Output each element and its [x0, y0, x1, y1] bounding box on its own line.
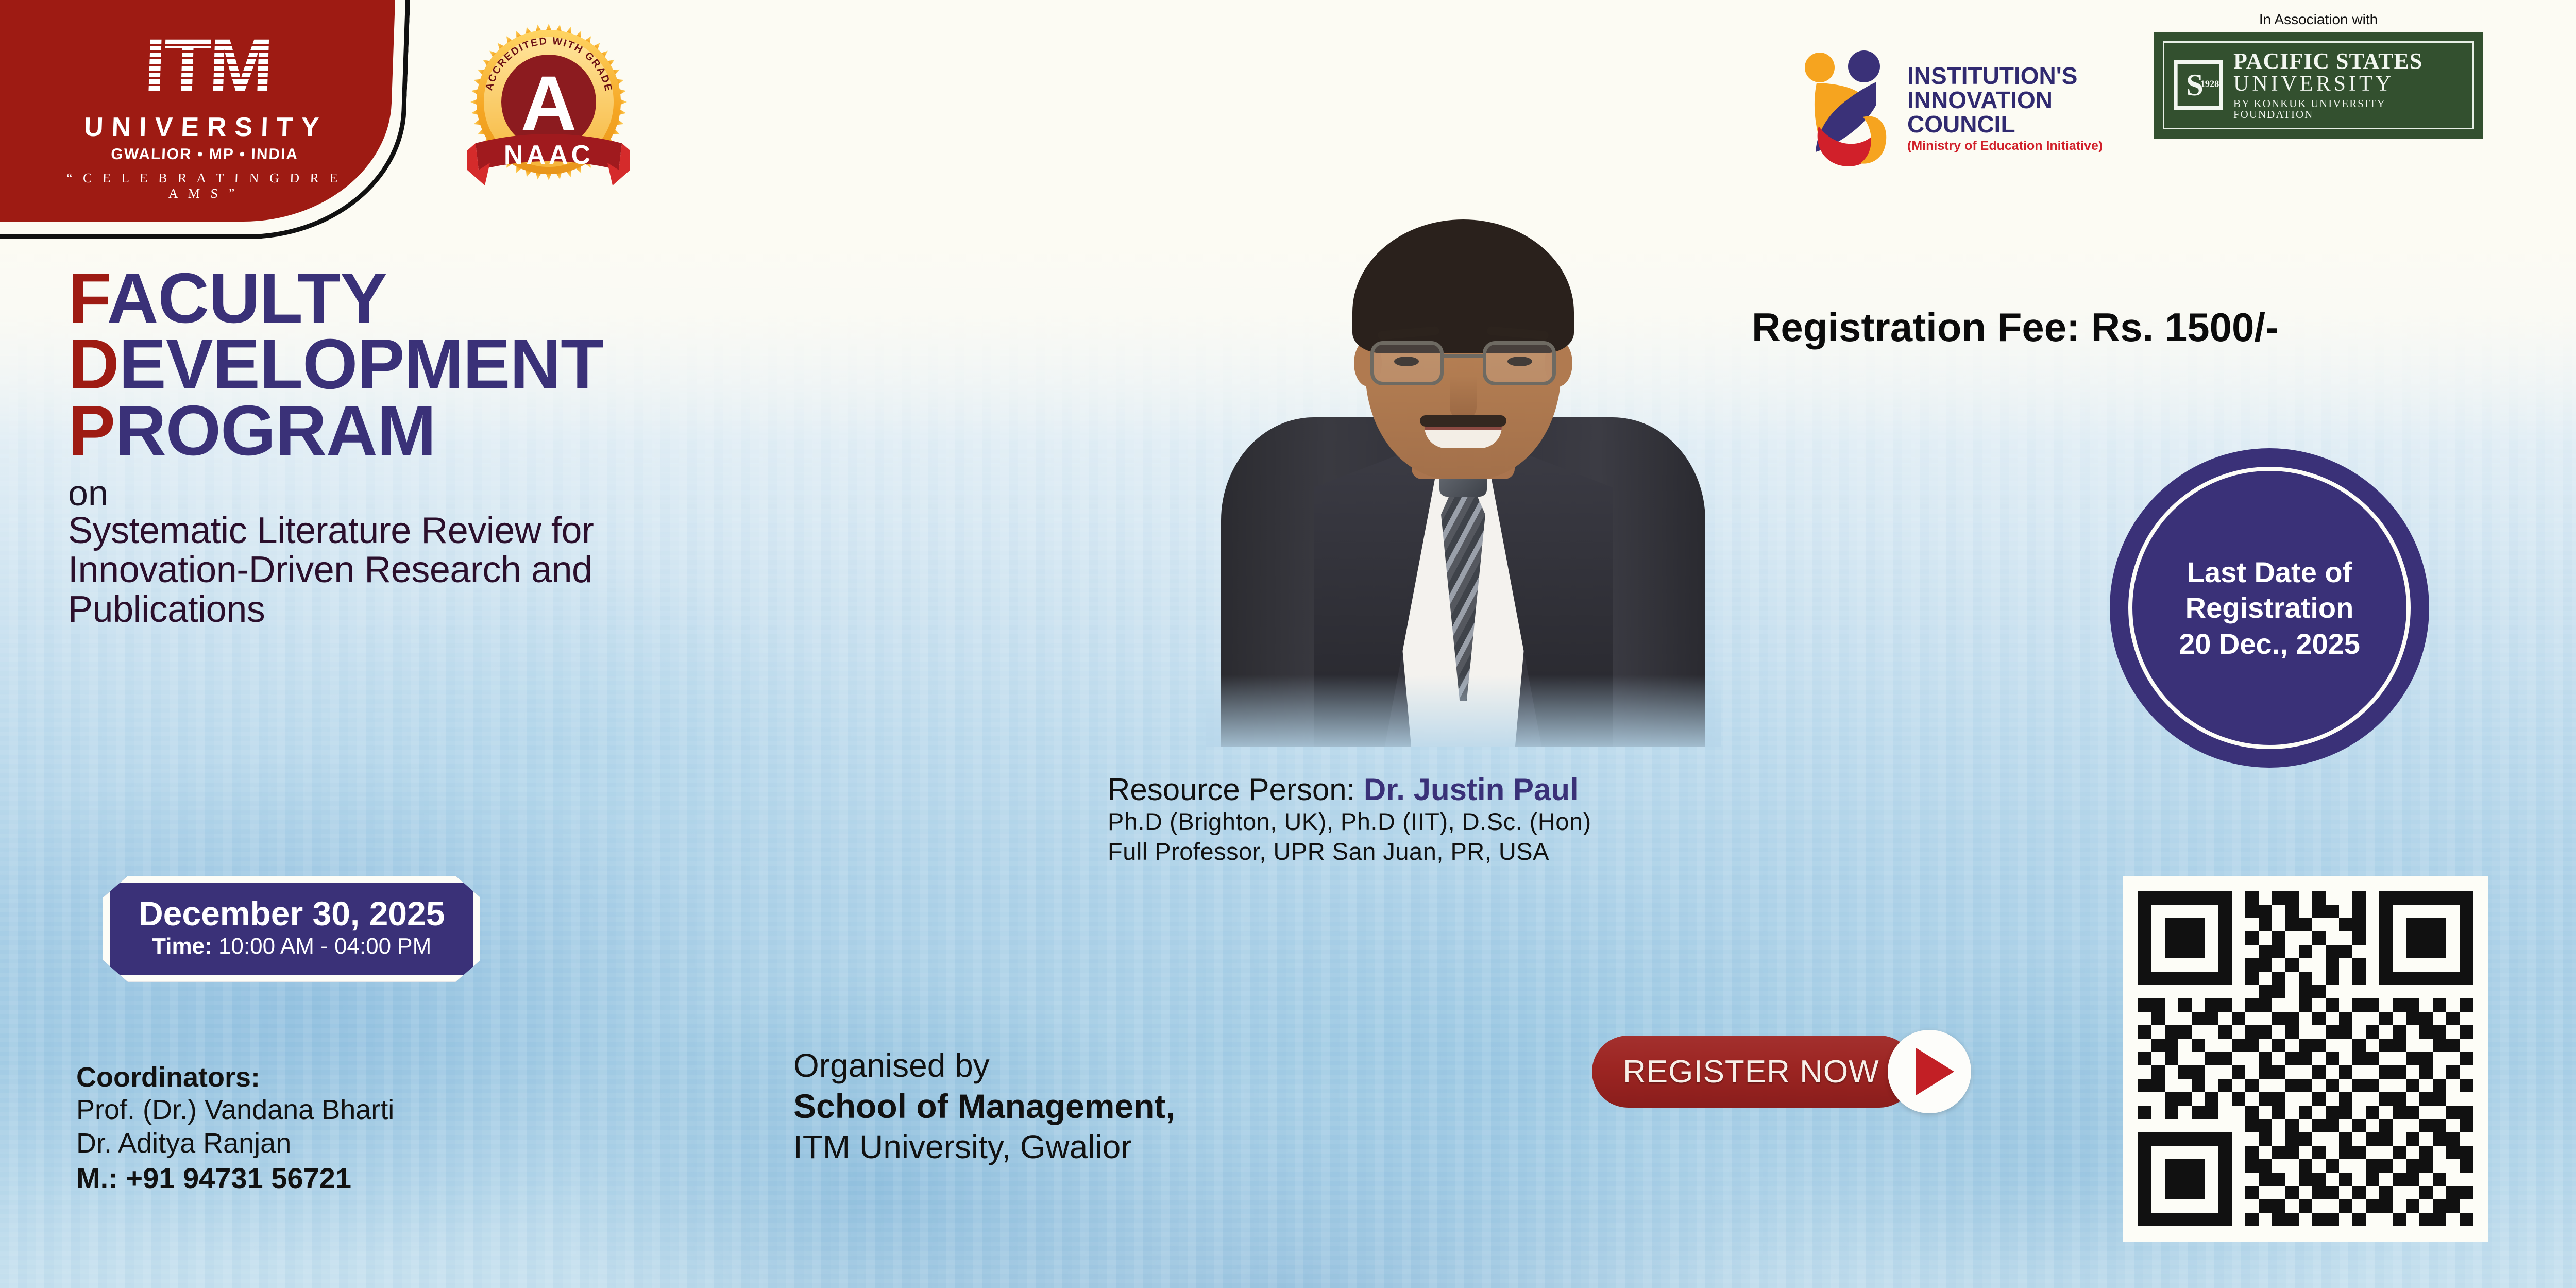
event-headline: FACULTY DEVELOPMENT PROGRAM on Systemati… — [68, 265, 603, 629]
topic-line-3: Publications — [68, 590, 603, 629]
iic-text-block: INSTITUTION'S INNOVATION COUNCIL (Minist… — [1907, 64, 2103, 152]
psu-name-block: PACIFIC STATES UNIVERSITY BY KONKUK UNIV… — [2233, 50, 2463, 121]
event-time: Time: 10:00 AM - 04:00 PM — [139, 934, 445, 960]
speaker-photo-fade — [1206, 675, 1721, 747]
speaker-photo — [1206, 170, 1721, 747]
organiser-university: ITM University, Gwalior — [793, 1127, 1175, 1167]
register-now-label: REGISTER NOW — [1623, 1054, 1879, 1090]
glasses-lens-right — [1483, 341, 1556, 385]
coordinator-name-2: Dr. Aditya Ranjan — [76, 1127, 394, 1160]
psu-name-line-2: UNIVERSITY — [2233, 73, 2463, 95]
event-date-badge: December 30, 2025 Time: 10:00 AM - 04:00… — [103, 876, 480, 982]
last-date-badge: Last Date of Registration 20 Dec., 2025 — [2110, 448, 2429, 768]
resource-person-credentials: Ph.D (Brighton, UK), Ph.D (IIT), D.Sc. (… — [1108, 807, 1591, 837]
itm-location-label: GWALIOR • MP • INDIA — [60, 146, 349, 163]
iic-line-2: INNOVATION — [1907, 88, 2103, 112]
speaker-nose — [1450, 376, 1477, 420]
organised-by-block: Organised by School of Management, ITM U… — [793, 1046, 1175, 1167]
coordinator-name-1: Prof. (Dr.) Vandana Bharti — [76, 1093, 394, 1127]
svg-text:1928: 1928 — [2200, 79, 2219, 89]
psu-name-line-1: PACIFIC STATES — [2233, 50, 2463, 73]
coordinators-title: Coordinators: — [76, 1061, 394, 1093]
registration-qr-code[interactable] — [2123, 876, 2488, 1242]
psu-logo-inner-frame: S 1928 PACIFIC STATES UNIVERSITY BY KONK… — [2163, 41, 2474, 129]
iic-line-3: COUNCIL — [1907, 112, 2103, 137]
resource-person-affiliation: Full Professor, UPR San Juan, PR, USA — [1108, 837, 1591, 867]
registration-fee: Registration Fee: Rs. 1500/- — [1752, 304, 2279, 351]
last-date-line-3: 20 Dec., 2025 — [2179, 626, 2360, 662]
glasses-bridge — [1444, 354, 1483, 358]
headline-line-faculty: FACULTY — [68, 265, 603, 331]
in-association-with-label: In Association with — [2154, 11, 2483, 28]
time-value: 10:00 AM - 04:00 PM — [218, 934, 431, 959]
register-now-pill[interactable]: REGISTER NOW — [1592, 1036, 1916, 1108]
headline-line-program: PROGRAM — [68, 398, 603, 464]
naac-seal-icon: ACCREDITED WITH GRADE A NAAC — [466, 15, 631, 193]
event-date: December 30, 2025 — [139, 896, 445, 931]
resource-person-line: Resource Person: Dr. Justin Paul — [1108, 773, 1591, 807]
organised-by-label: Organised by — [793, 1046, 1175, 1086]
iic-line-1: INSTITUTION'S — [1907, 64, 2103, 88]
headline-rest-program: ROGRAM — [115, 391, 436, 470]
itm-tagline: “ C E L E B R A T I N G D R E A M S ” — [59, 171, 348, 201]
institutions-innovation-council-logo: INSTITUTION'S INNOVATION COUNCIL (Minist… — [1798, 49, 2103, 167]
itm-university-logo: ITM UNIVERSITY GWALIOR • MP • INDIA “ C … — [59, 26, 353, 201]
organiser-school: School of Management, — [793, 1086, 1175, 1127]
resource-person-name: Dr. Justin Paul — [1364, 772, 1579, 807]
psu-seal-icon: S 1928 — [2174, 60, 2223, 110]
poster-canvas: ITM UNIVERSITY GWALIOR • MP • INDIA “ C … — [0, 0, 2576, 1288]
topic-line-1: Systematic Literature Review for — [68, 511, 603, 550]
iic-ministry-subtitle: (Ministry of Education Initiative) — [1907, 140, 2103, 153]
topic-line-2: Innovation-Driven Research and — [68, 550, 603, 589]
qr-code-icon — [2138, 891, 2473, 1226]
naac-ribbon-text: NAAC — [504, 140, 594, 170]
itm-wordmark-icon: ITM — [114, 26, 302, 106]
psu-name-line-3: BY KONKUK UNIVERSITY FOUNDATION — [2233, 98, 2463, 121]
naac-grade-letter: A — [521, 60, 577, 146]
last-date-text: Last Date of Registration 20 Dec., 2025 — [2179, 554, 2360, 662]
itm-university-label: UNIVERSITY — [61, 114, 350, 141]
speaker-mustache — [1420, 415, 1506, 427]
headline-cap-p: P — [68, 391, 115, 470]
register-now-button[interactable]: REGISTER NOW — [1592, 1036, 1971, 1108]
coordinator-phone: M.: +91 94731 56721 — [76, 1160, 394, 1196]
register-now-arrow-circle[interactable] — [1888, 1030, 1971, 1113]
resource-person-label: Resource Person: — [1108, 772, 1355, 807]
iic-symbol-icon — [1798, 49, 1896, 167]
headline-connector-on: on — [68, 475, 603, 511]
glasses-lens-left — [1370, 341, 1444, 385]
speaker-smile — [1425, 427, 1502, 448]
resource-person-block: Resource Person: Dr. Justin Paul Ph.D (B… — [1108, 773, 1591, 867]
last-date-line-1: Last Date of — [2179, 554, 2360, 590]
coordinators-block: Coordinators: Prof. (Dr.) Vandana Bharti… — [76, 1061, 394, 1196]
last-date-line-2: Registration — [2179, 590, 2360, 625]
time-label: Time: — [152, 934, 212, 959]
play-arrow-icon — [1916, 1048, 1954, 1095]
naac-accreditation-badge: ACCREDITED WITH GRADE A NAAC — [466, 15, 631, 193]
itm-wordmark-text: ITM — [114, 26, 302, 106]
headline-line-development: DEVELOPMENT — [68, 331, 603, 397]
pacific-states-university-logo: S 1928 PACIFIC STATES UNIVERSITY BY KONK… — [2154, 32, 2483, 139]
association-block: In Association with S 1928 PACIFIC STATE… — [2154, 11, 2483, 139]
